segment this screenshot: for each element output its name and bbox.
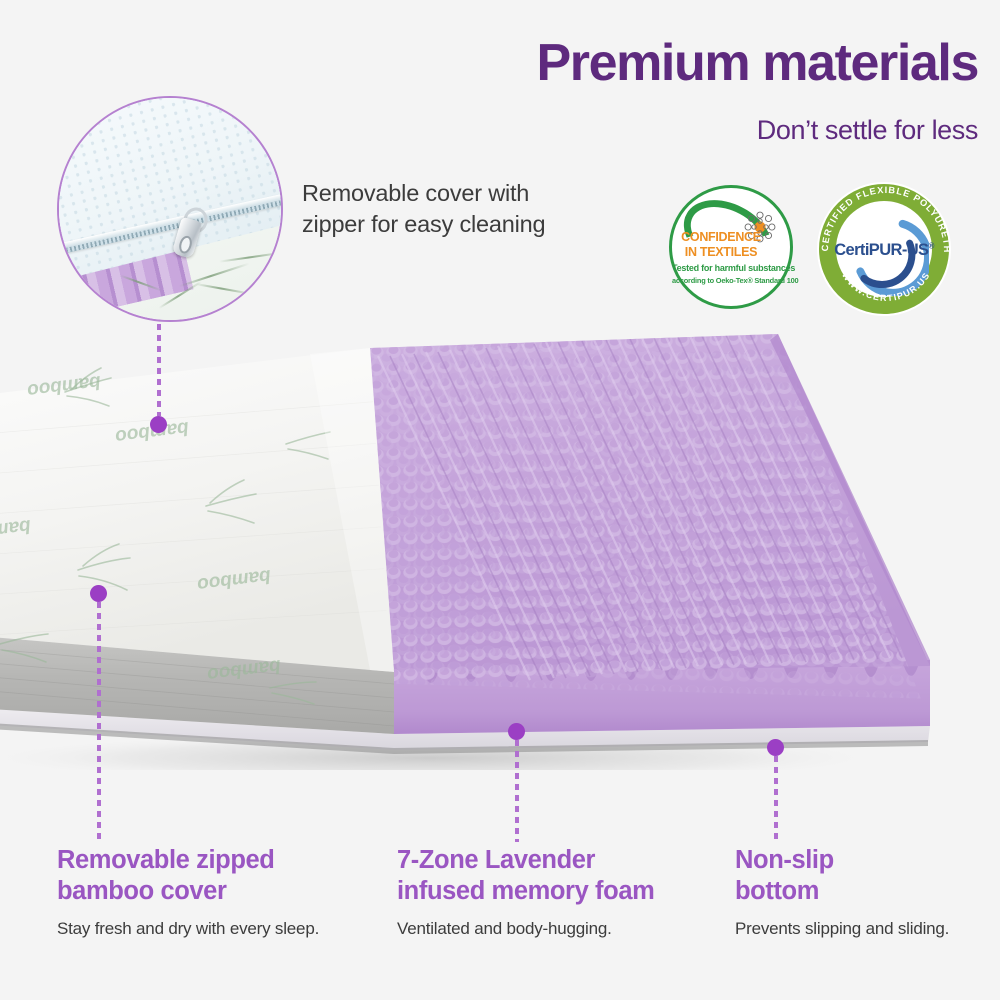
page-title: Premium materials — [536, 36, 978, 91]
connector-line — [157, 324, 161, 416]
feature-7-zone-lavender-memory-foam: 7-Zone Lavenderinfused memory foam Venti… — [397, 845, 707, 940]
connector-dot — [767, 739, 784, 756]
connector-line — [774, 756, 778, 842]
page-subtitle: Don’t settle for less — [757, 115, 978, 146]
feature-non-slip-bottom: Non-slipbottom Prevents slipping and sli… — [735, 845, 985, 940]
callout-zipper-text: Removable cover withzipper for easy clea… — [302, 178, 545, 240]
connector-dot — [508, 723, 525, 740]
oeko-tex-badge: CONFIDENCEIN TEXTILES Tested for harmful… — [669, 185, 793, 309]
svg-text:CONTAINS CERTIFIED FLEXIBLE PO: CONTAINS CERTIFIED FLEXIBLE POLYURETHANE… — [819, 184, 952, 254]
feature-title: Non-slipbottom — [735, 845, 985, 906]
oeko-tex-standard: according to Oeko-Tex® Standard 100 — [672, 276, 790, 285]
zipper-detail-inset — [57, 96, 283, 322]
svg-text:WWW.CERTIPUR.US: WWW.CERTIPUR.US — [840, 270, 932, 303]
product-infographic: Premium materials Don’t settle for less … — [0, 0, 1000, 1000]
feature-description: Prevents slipping and sliding. — [735, 918, 985, 940]
connector-dot — [90, 585, 107, 602]
certipur-arc-text: CONTAINS CERTIFIED FLEXIBLE POLYURETHANE… — [819, 184, 953, 318]
certipur-us-badge: CertiPUR-US® CONTAINS CERTIFIED FLEXIBLE… — [817, 182, 951, 316]
connector-line — [515, 740, 519, 842]
feature-removable-zipped-bamboo-cover: Removable zippedbamboo cover Stay fresh … — [57, 845, 367, 940]
mattress-topper-image: bamboo bamboo bamboo bamboo bamboo bambo… — [0, 330, 970, 770]
oeko-tex-title: CONFIDENCEIN TEXTILES — [672, 230, 790, 260]
connector-dot — [150, 416, 167, 433]
oeko-tex-subtitle: Tested for harmful substances — [672, 263, 790, 273]
feature-description: Ventilated and body-hugging. — [397, 918, 707, 940]
feature-title: 7-Zone Lavenderinfused memory foam — [397, 845, 707, 906]
feature-title: Removable zippedbamboo cover — [57, 845, 367, 906]
connector-line — [97, 602, 101, 842]
feature-description: Stay fresh and dry with every sleep. — [57, 918, 367, 940]
